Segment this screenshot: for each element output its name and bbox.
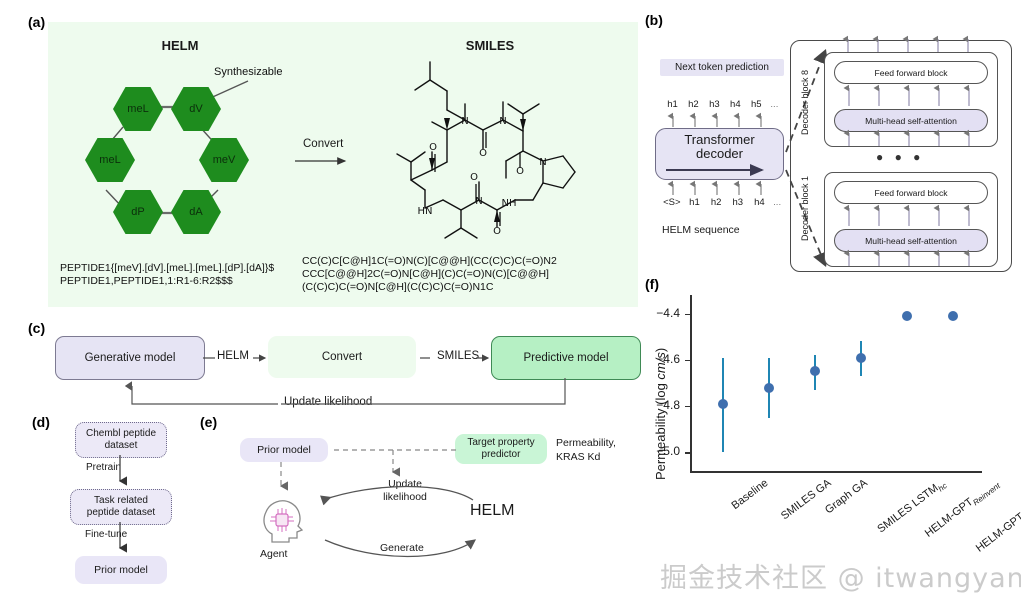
convert-arrow-icon xyxy=(295,156,357,168)
decoder-stack-ellipsis: ● ● ● xyxy=(876,150,924,164)
cyclic-peptide-structure: N N N O O O O O NH HN N xyxy=(375,52,615,257)
smiles-column-title: SMILES xyxy=(430,38,550,53)
convert-box[interactable]: Convert xyxy=(268,336,416,378)
chart-x-axis xyxy=(690,471,982,473)
chart-y-tick-mark xyxy=(685,406,690,407)
block1-inner-arrows-icon xyxy=(843,204,977,227)
synthesizable-label: Synthesizable xyxy=(214,66,283,78)
svg-text:NH: NH xyxy=(502,198,517,209)
svg-text:O: O xyxy=(470,172,478,183)
task-dataset-box[interactable]: Task related peptide dataset xyxy=(70,489,172,525)
chart-y-axis xyxy=(690,295,692,472)
chart-x-label: Baseline xyxy=(730,477,771,512)
input-token-h2: h2 xyxy=(705,197,727,208)
svg-text:O: O xyxy=(516,166,524,177)
decoder-direction-arrow-icon xyxy=(666,165,774,176)
chart-point[interactable] xyxy=(902,311,912,321)
output-token-h1: h1 xyxy=(662,99,683,110)
svg-text:N: N xyxy=(499,116,506,127)
block8-output-arrows-icon xyxy=(842,36,976,53)
input-token-start: <S> xyxy=(660,197,684,208)
svg-text:N: N xyxy=(539,157,546,168)
svg-text:O: O xyxy=(493,226,501,237)
chart-x-label: SMILES GA xyxy=(779,477,834,522)
chart-point[interactable] xyxy=(810,366,820,376)
smiles-string-line1: CC(C)C[C@H]1C(=O)N(C)[C@@H](CC(C)C)C(=O)… xyxy=(302,255,557,268)
chart-y-tick-label: −4.4 xyxy=(638,306,680,320)
input-token-h3: h3 xyxy=(727,197,749,208)
svg-text:O: O xyxy=(429,142,437,153)
decoder-block-8-label: Decoder block 8 xyxy=(800,52,810,152)
agent-label: Agent xyxy=(260,548,287,560)
predictor-dashed-connector-icon xyxy=(326,440,461,482)
block8-input-arrows-icon xyxy=(843,130,977,147)
panel-f-letter: (f) xyxy=(645,276,659,292)
input-token-h4: h4 xyxy=(749,197,771,208)
convert-arrow-label: Convert xyxy=(303,138,343,150)
agent-brain-icon xyxy=(258,490,310,546)
multihead-attention-1: Multi-head self-attention xyxy=(834,229,988,252)
helm-column-title: HELM xyxy=(120,38,240,53)
input-arrows-icon xyxy=(662,180,782,196)
watermark: 掘金技术社区 @ itwangyang xyxy=(660,556,1021,595)
agent-helm-cycle-arrows-icon xyxy=(305,478,495,568)
chart-y-tick-mark xyxy=(685,452,690,453)
helm-notation-line2: PEPTIDE1,PEPTIDE1,1:R1-6:R2$$$ xyxy=(60,275,233,288)
svg-text:N: N xyxy=(475,196,482,207)
helm-sequence-label: HELM sequence xyxy=(662,224,740,236)
target-property-predictor-box[interactable]: Target property predictor xyxy=(455,434,547,464)
svg-text:N: N xyxy=(461,116,468,127)
output-token-row: h1 h2 h3 h4 h5 ... xyxy=(662,99,782,110)
properties-line1: Permeability, xyxy=(556,437,616,449)
chart-point[interactable] xyxy=(948,311,958,321)
panel-c-letter: (c) xyxy=(28,320,45,336)
chart-y-tick-label: −4.6 xyxy=(638,352,680,366)
chart-y-tick-label: −4.8 xyxy=(638,398,680,412)
properties-line2: KRAS Kd xyxy=(556,451,600,463)
decoder-block-8[interactable]: Feed forward block Multi-head self-atten… xyxy=(824,52,998,147)
chart-point[interactable] xyxy=(764,383,774,393)
transformer-decoder-title-1: Transformer xyxy=(656,133,783,147)
decoder-block-1-label: Decoder block 1 xyxy=(800,158,810,258)
panel-b-letter: (b) xyxy=(645,12,663,28)
output-token-h5: h5 xyxy=(746,99,767,110)
prior-model-box-d[interactable]: Prior model xyxy=(75,556,167,584)
update-likelihood-feedback-arrow-icon xyxy=(95,378,595,414)
pretrain-arrow-icon xyxy=(115,455,129,489)
permeability-scatter-chart: −4.4−4.6−4.8−5.0 BaselineSMILES GAGraph … xyxy=(690,295,990,490)
block1-input-arrows-icon xyxy=(843,250,977,267)
smiles-flow-arrow-icon xyxy=(420,352,492,366)
panel-d-letter: (d) xyxy=(32,414,50,430)
helm-notation-line1: PEPTIDE1{[meV].[dV].[meL].[meL].[dP].[dA… xyxy=(60,262,274,275)
smiles-string-line2: CCC[C@@H]2C(=O)N[C@H](C)C(=O)N(C)[C@@H] xyxy=(302,268,549,281)
feed-forward-block-1: Feed forward block xyxy=(834,181,988,204)
generative-model-box[interactable]: Generative model xyxy=(55,336,205,380)
chart-y-tick-mark xyxy=(685,314,690,315)
chart-point[interactable] xyxy=(856,353,866,363)
helm-flow-arrow-icon xyxy=(203,352,269,366)
input-token-h1: h1 xyxy=(684,197,706,208)
next-token-prediction-badge: Next token prediction xyxy=(660,59,784,76)
svg-text:O: O xyxy=(479,148,487,159)
chart-y-tick-label: −5.0 xyxy=(638,444,680,458)
output-arrows-icon xyxy=(662,112,782,128)
output-token-h2: h2 xyxy=(683,99,704,110)
chart-point[interactable] xyxy=(718,399,728,409)
smiles-string-line3: (C(C)C)C(=O)N[C@H](C(C)C)C(=O)N1C xyxy=(302,281,493,294)
chart-y-tick-mark xyxy=(685,360,690,361)
output-token-h3: h3 xyxy=(704,99,725,110)
input-token-row: <S> h1 h2 h3 h4 ... xyxy=(660,197,784,208)
multihead-attention-8: Multi-head self-attention xyxy=(834,109,988,132)
transformer-decoder-title-2: decoder xyxy=(656,147,783,161)
decoder-block-1[interactable]: Feed forward block Multi-head self-atten… xyxy=(824,172,998,267)
svg-text:HN: HN xyxy=(418,206,433,217)
feed-forward-block-8: Feed forward block xyxy=(834,61,988,84)
transformer-decoder-box[interactable]: Transformer decoder xyxy=(655,128,784,180)
prior-model-box-e[interactable]: Prior model xyxy=(240,438,328,462)
output-token-h4: h4 xyxy=(725,99,746,110)
predictive-model-box[interactable]: Predictive model xyxy=(491,336,641,380)
panel-a-letter: (a) xyxy=(28,14,45,30)
block8-inner-arrows-icon xyxy=(843,84,977,107)
chembl-dataset-box[interactable]: Chembl peptide dataset xyxy=(75,422,167,458)
panel-e-letter: (e) xyxy=(200,414,217,430)
finetune-arrow-icon xyxy=(115,522,129,556)
